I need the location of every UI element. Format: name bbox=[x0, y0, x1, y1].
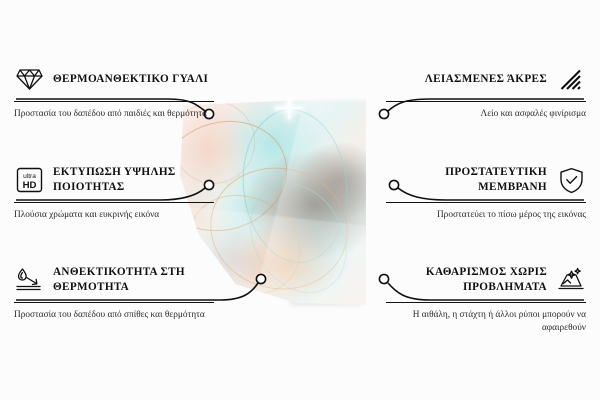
diagonal-stripes-icon bbox=[556, 64, 586, 94]
feature-polished-edges: ΛΕΙΑΣΜΕΝΕΣ ΆΚΡΕΣ Λείο και ασφαλές φινίρι… bbox=[386, 62, 586, 121]
shield-check-icon bbox=[556, 165, 586, 195]
heat-resistance-icon bbox=[14, 265, 44, 295]
feature-header: ΛΕΙΑΣΜΕΝΕΣ ΆΚΡΕΣ bbox=[386, 62, 586, 96]
product-feature-infographic: ΘΕΡΜΟΑΝΘΕΚΤΙΚΟ ΓΥΑΛΙ Προστασία του δαπέδ… bbox=[0, 0, 600, 400]
feature-divider bbox=[14, 302, 214, 303]
feature-description: Πλούσια χρώματα και ευκρινής εικόνα bbox=[14, 209, 214, 222]
feature-header: ΠΡΟΣΤΑΤΕΥΤΙΚΗ ΜΕΜΒΡΑΝΗ bbox=[386, 163, 586, 197]
feature-divider bbox=[386, 302, 586, 303]
feature-divider bbox=[386, 202, 586, 203]
feature-title: ΘΕΡΜΟΑΝΘΕΚΤΙΚΟ ΓΥΑΛΙ bbox=[53, 72, 208, 87]
svg-text:HD: HD bbox=[22, 180, 36, 191]
feature-title: ΛΕΙΑΣΜΕΝΕΣ ΆΚΡΕΣ bbox=[425, 72, 547, 87]
feature-header: ΘΕΡΜΟΑΝΘΕΚΤΙΚΟ ΓΥΑΛΙ bbox=[14, 62, 214, 96]
feature-header: ΚΑΘΑΡΙΣΜΟΣ ΧΩΡΙΣ ΠΡΟΒΛΗΜΑΤΑ bbox=[386, 263, 586, 297]
feature-title: ΠΡΟΣΤΑΤΕΥΤΙΚΗ ΜΕΜΒΡΑΝΗ bbox=[386, 165, 547, 195]
feature-title: ΚΑΘΑΡΙΣΜΟΣ ΧΩΡΙΣ ΠΡΟΒΛΗΜΑΤΑ bbox=[386, 265, 547, 295]
feature-divider bbox=[386, 101, 586, 102]
feature-description: Η αιθάλη, η στάχτη ή άλλοι ρύποι μπορούν… bbox=[386, 309, 586, 335]
feature-title: ΕΚΤΥΠΩΣΗ ΥΨΗΛΗΣ ΠΟΙΟΤΗΤΑΣ bbox=[53, 165, 214, 195]
feature-heat-durability: ΑΝΘΕΚΤΙΚΟΤΗΤΑ ΣΤΗ ΘΕΡΜΟΤΗΤΑ Προστασία το… bbox=[14, 263, 214, 322]
feature-high-quality-print: ultra HD ΕΚΤΥΠΩΣΗ ΥΨΗΛΗΣ ΠΟΙΟΤΗΤΑΣ Πλούσ… bbox=[14, 163, 214, 222]
feature-description: Προστασία του δαπέδου από σπίθες και θερ… bbox=[14, 309, 214, 322]
feature-protective-membrane: ΠΡΟΣΤΑΤΕΥΤΙΚΗ ΜΕΜΒΡΑΝΗ Προστατεύει το πί… bbox=[386, 163, 586, 222]
feature-easy-cleaning: ΚΑΘΑΡΙΣΜΟΣ ΧΩΡΙΣ ΠΡΟΒΛΗΜΑΤΑ Η αιθάλη, η … bbox=[386, 263, 586, 335]
feature-divider bbox=[14, 202, 214, 203]
sparkle-clean-icon bbox=[556, 265, 586, 295]
feature-divider bbox=[14, 101, 214, 102]
feature-description: Προστασία του δαπέδου από παιδιές και θε… bbox=[14, 108, 214, 121]
feature-header: ultra HD ΕΚΤΥΠΩΣΗ ΥΨΗΛΗΣ ΠΟΙΟΤΗΤΑΣ bbox=[14, 163, 214, 197]
feature-heat-resistant-glass: ΘΕΡΜΟΑΝΘΕΚΤΙΚΟ ΓΥΑΛΙ Προστασία του δαπέδ… bbox=[14, 62, 214, 121]
ultra-hd-icon: ultra HD bbox=[14, 165, 44, 195]
diamond-icon bbox=[14, 64, 44, 94]
feature-description: Λείο και ασφαλές φινίρισμα bbox=[386, 108, 586, 121]
feature-header: ΑΝΘΕΚΤΙΚΟΤΗΤΑ ΣΤΗ ΘΕΡΜΟΤΗΤΑ bbox=[14, 263, 214, 297]
feature-title: ΑΝΘΕΚΤΙΚΟΤΗΤΑ ΣΤΗ ΘΕΡΜΟΤΗΤΑ bbox=[53, 265, 214, 295]
feature-description: Προστατεύει το πίσω μέρος της εικόνας bbox=[386, 209, 586, 222]
svg-text:ultra: ultra bbox=[23, 173, 36, 180]
